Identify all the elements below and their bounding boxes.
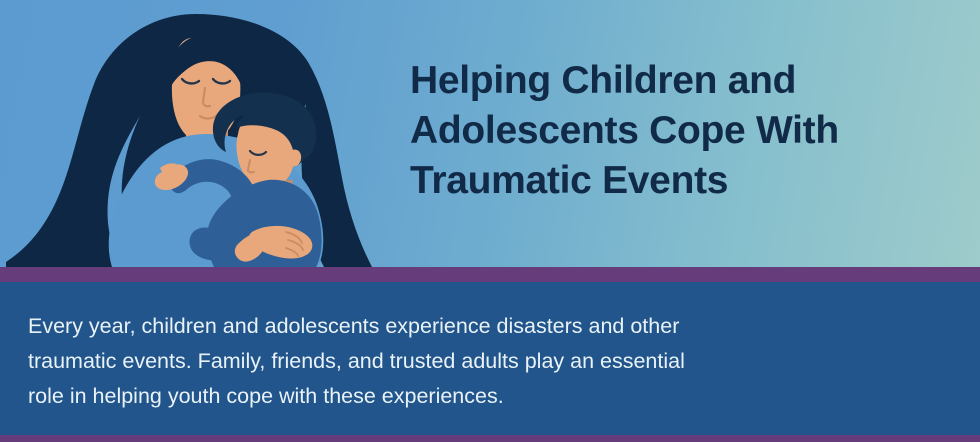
divider-bar-bottom [0,435,980,442]
body-paragraph: Every year, children and adolescents exp… [28,309,948,414]
title-line-3: Traumatic Events [410,156,955,206]
page-title: Helping Children and Adolescents Cope Wi… [410,56,955,206]
title-line-2: Adolescents Cope With [410,106,955,156]
hero-section: Helping Children and Adolescents Cope Wi… [0,0,980,267]
embrace-illustration-svg [0,0,400,267]
embrace-illustration [0,0,400,267]
body-panel: Every year, children and adolescents exp… [0,282,980,435]
body-line-3: role in helping youth cope with these ex… [28,384,504,408]
title-line-1: Helping Children and [410,56,955,106]
infographic-banner: Helping Children and Adolescents Cope Wi… [0,0,980,442]
body-line-2: traumatic events. Family, friends, and t… [28,349,685,373]
divider-bar-top [0,267,980,282]
body-line-1: Every year, children and adolescents exp… [28,314,679,338]
